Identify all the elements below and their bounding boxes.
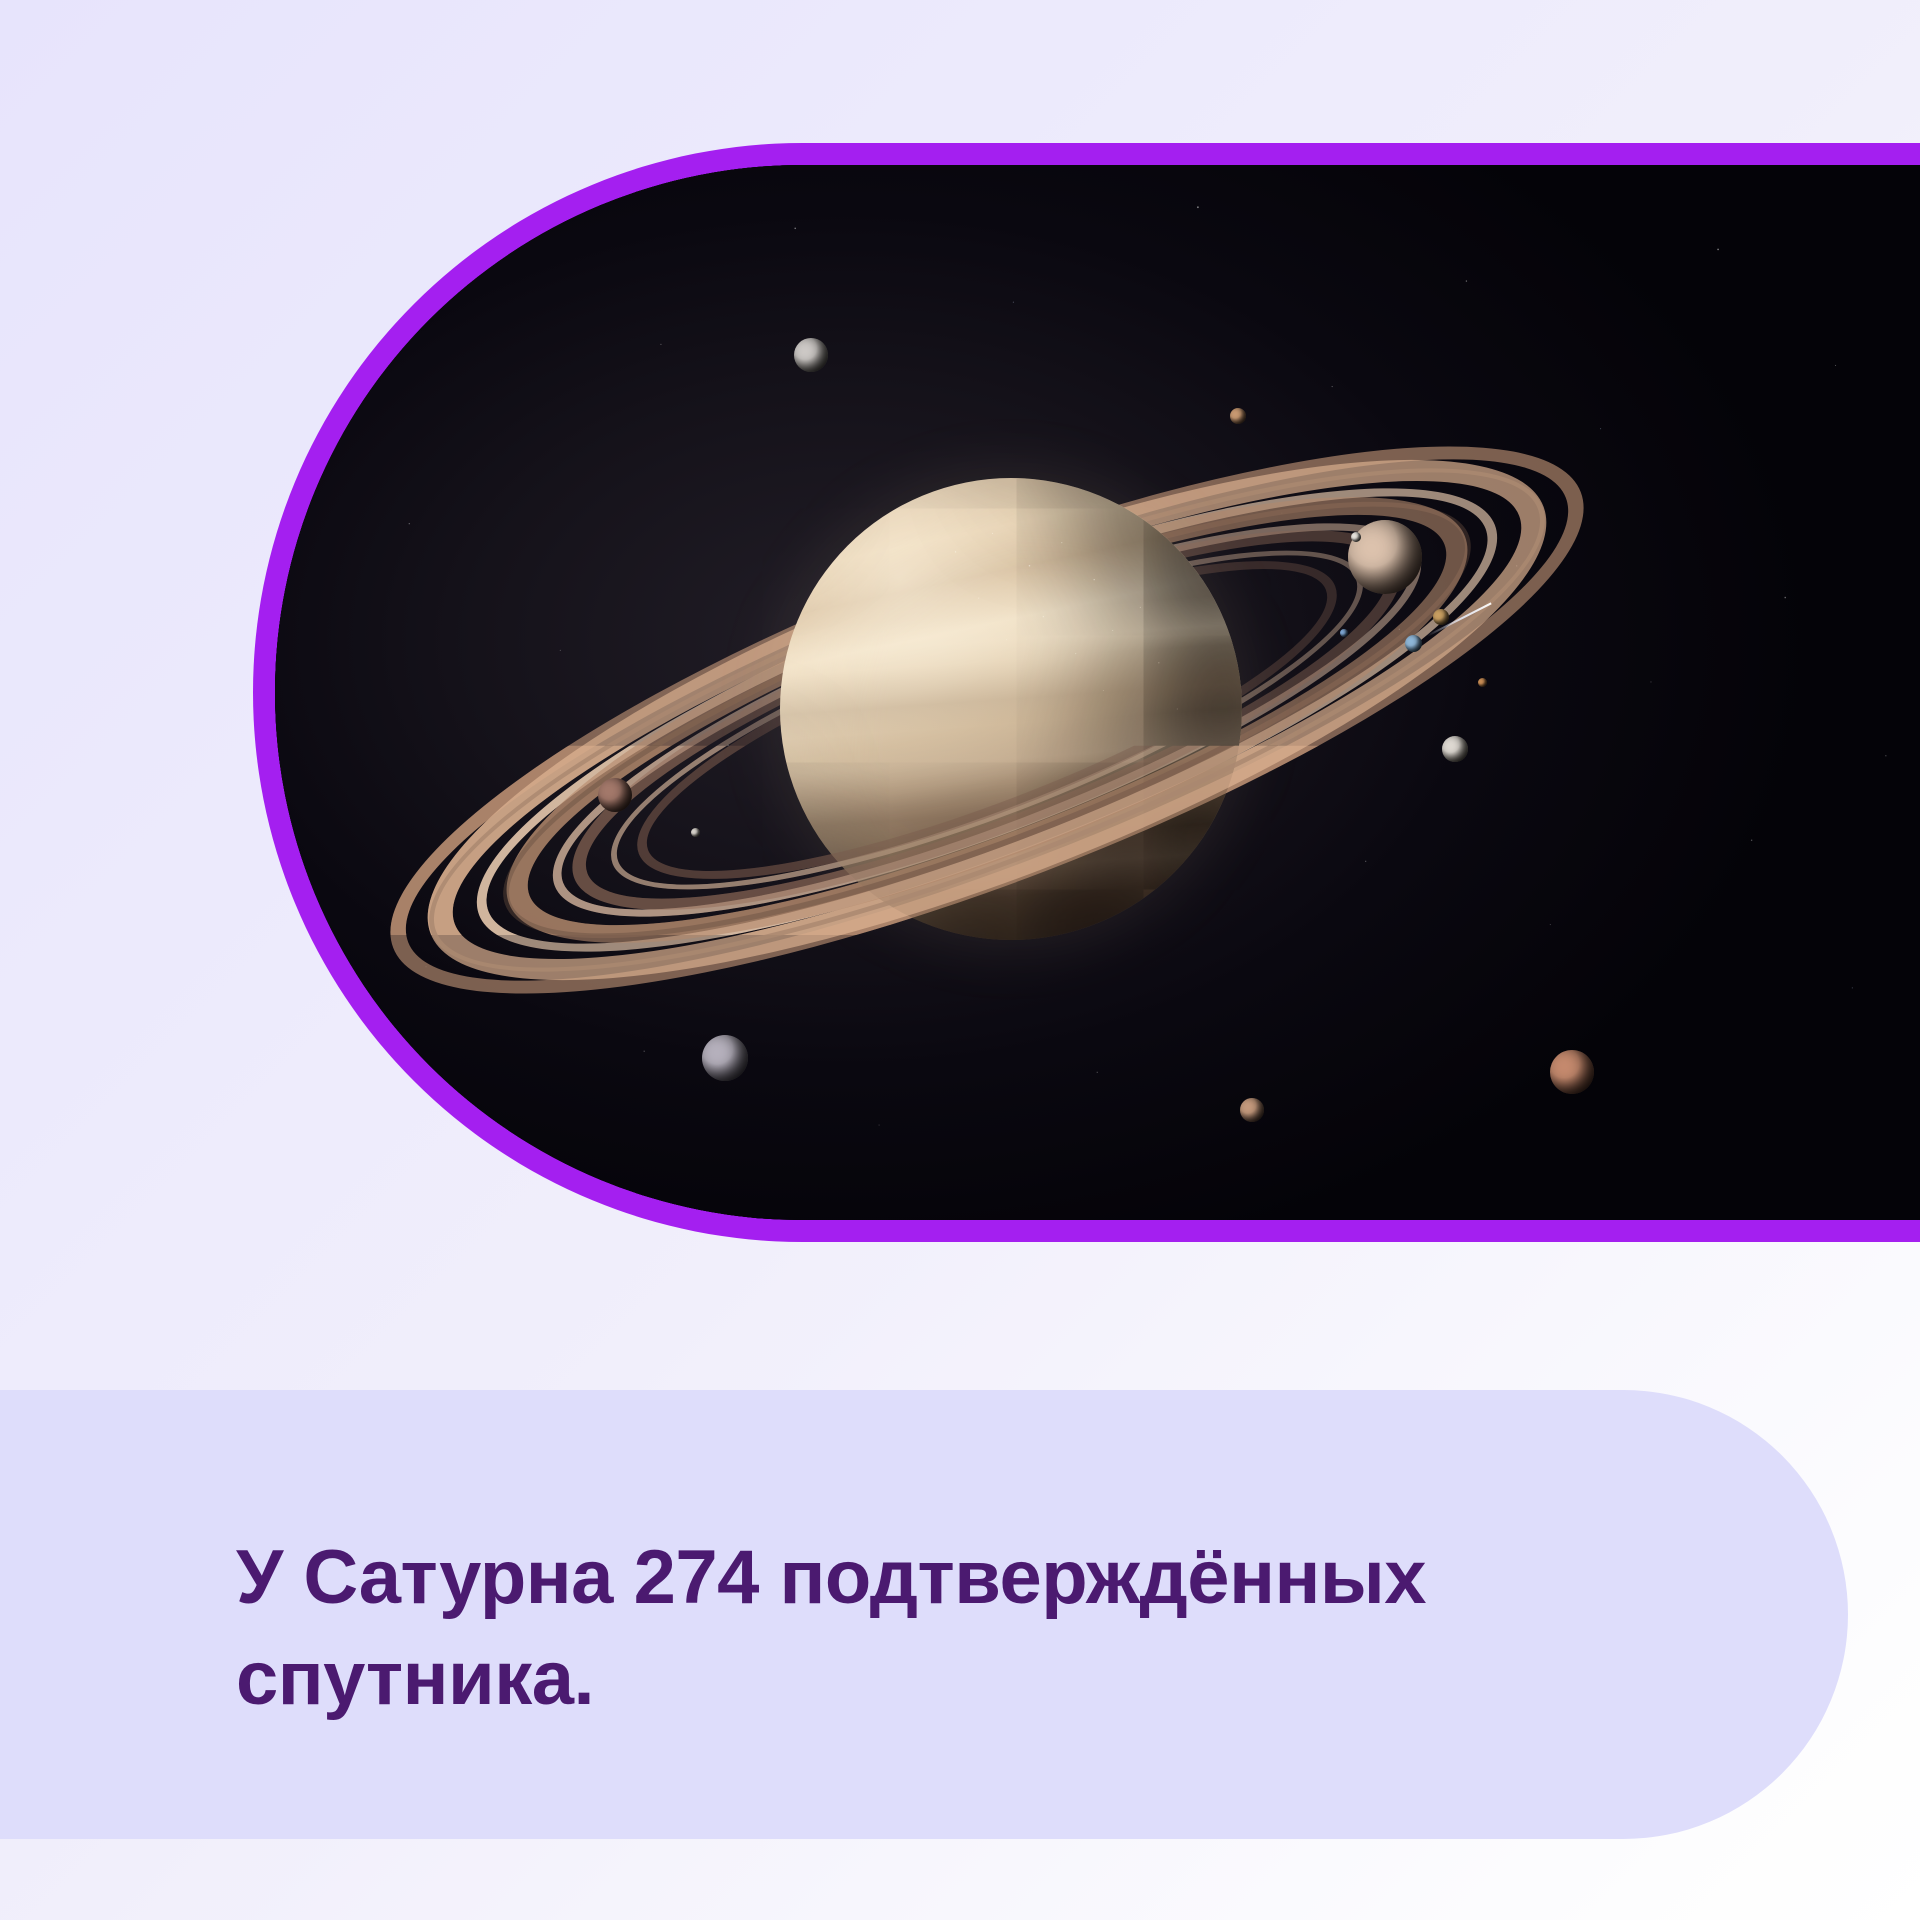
saturn-planet-group <box>497 350 1477 1090</box>
moon-tiny-white-a <box>1351 532 1361 542</box>
moon-tiny-orange <box>1478 678 1487 687</box>
moon-bottom-right <box>1550 1050 1594 1094</box>
moon-pair-lower-left <box>702 1035 748 1081</box>
moon-amber-small <box>1433 609 1449 625</box>
moon-top-left <box>794 338 828 372</box>
moon-tiny-blue <box>1340 629 1348 637</box>
moon-small-bottom <box>1240 1098 1264 1122</box>
moon-redbrown-left <box>598 778 632 812</box>
moon-large-pale <box>1348 520 1422 594</box>
space-scene <box>275 165 1920 1220</box>
slide-canvas: У Сатурна 274 подтверждённых спутника. <box>0 0 1920 1920</box>
saturn-photo-card <box>253 143 1920 1242</box>
moon-blue-comet <box>1405 635 1422 652</box>
moon-white-mid <box>1442 736 1468 762</box>
fact-caption-text: У Сатурна 274 подтверждённых спутника. <box>236 1527 1536 1729</box>
moon-upper-mid <box>1230 408 1246 424</box>
moon-speck-left <box>691 828 700 837</box>
